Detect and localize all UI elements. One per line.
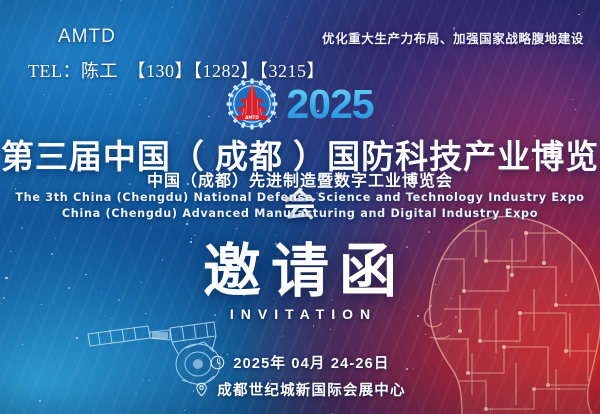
title-english-line-1: The 3th China (Chengdu) National Defense… [0, 191, 600, 204]
event-date-row: 2025年 04月 24-26日 [210, 352, 389, 373]
event-info-block: 2025年 04月 24-26日 成都世纪城新国际会展中心 [0, 352, 600, 400]
invitation-poster: AMTD TEL：陈工 【130】【1282】【3215】 优化重大生产力布局、… [0, 0, 600, 414]
page-subtitle: 中国（成都）先进制造暨数字工业博览会 [0, 167, 600, 191]
slogan-label: 优化重大生产力布局、加强国家战略腹地建设 [322, 28, 584, 47]
poster-content: AMTD TEL：陈工 【130】【1282】【3215】 优化重大生产力布局、… [0, 0, 600, 414]
brand-label: AMTD [58, 26, 116, 48]
clock-icon [210, 355, 225, 370]
event-date-label: 2025年 04月 24-26日 [233, 352, 389, 373]
invitation-heading-en: INVITATION [0, 306, 600, 322]
location-pin-icon [194, 382, 209, 397]
logo-text: AMTD [246, 115, 260, 120]
year-label: 2025 [286, 84, 373, 125]
event-venue-label: 成都世纪城新国际会展中心 [217, 379, 405, 400]
event-venue-row: 成都世纪城新国际会展中心 [194, 379, 405, 400]
invitation-heading-cn: 邀请函 [0, 243, 600, 301]
logo-year-row: AMTD 2025 [0, 78, 600, 130]
title-english-line-2: China (Chengdu) Advanced Manufacturing a… [0, 207, 600, 220]
pagoda-gear-logo-icon: AMTD [226, 78, 278, 130]
